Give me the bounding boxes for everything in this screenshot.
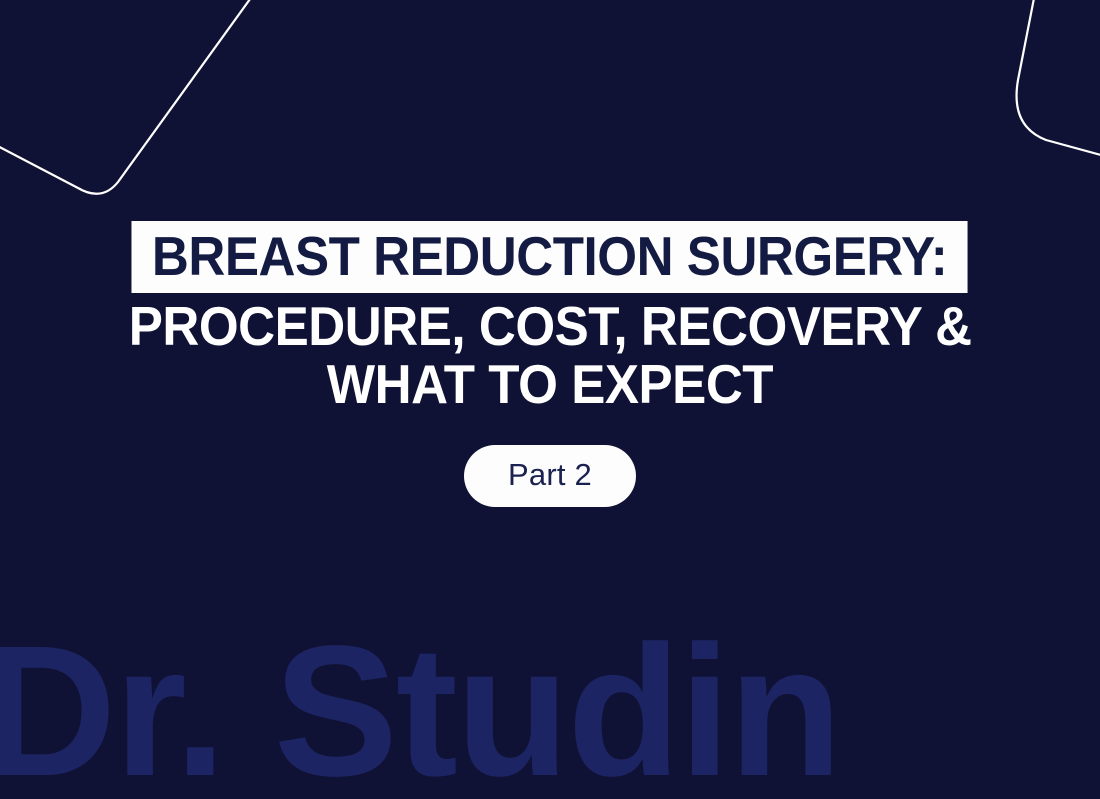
slide-content: Breast Reduction Surgery: Procedure, Cos… <box>0 0 1100 799</box>
slide-canvas: Dr. Studin Breast Reduction Surgery: Pro… <box>0 0 1100 799</box>
part-badge: Part 2 <box>464 445 636 507</box>
title-line-1: Breast Reduction Surgery: <box>132 221 968 293</box>
page-title: Breast Reduction Surgery: Procedure, Cos… <box>0 221 1100 413</box>
title-line-3: What To Expect <box>321 355 778 413</box>
title-line-2: Procedure, Cost, Recovery & <box>123 297 977 355</box>
